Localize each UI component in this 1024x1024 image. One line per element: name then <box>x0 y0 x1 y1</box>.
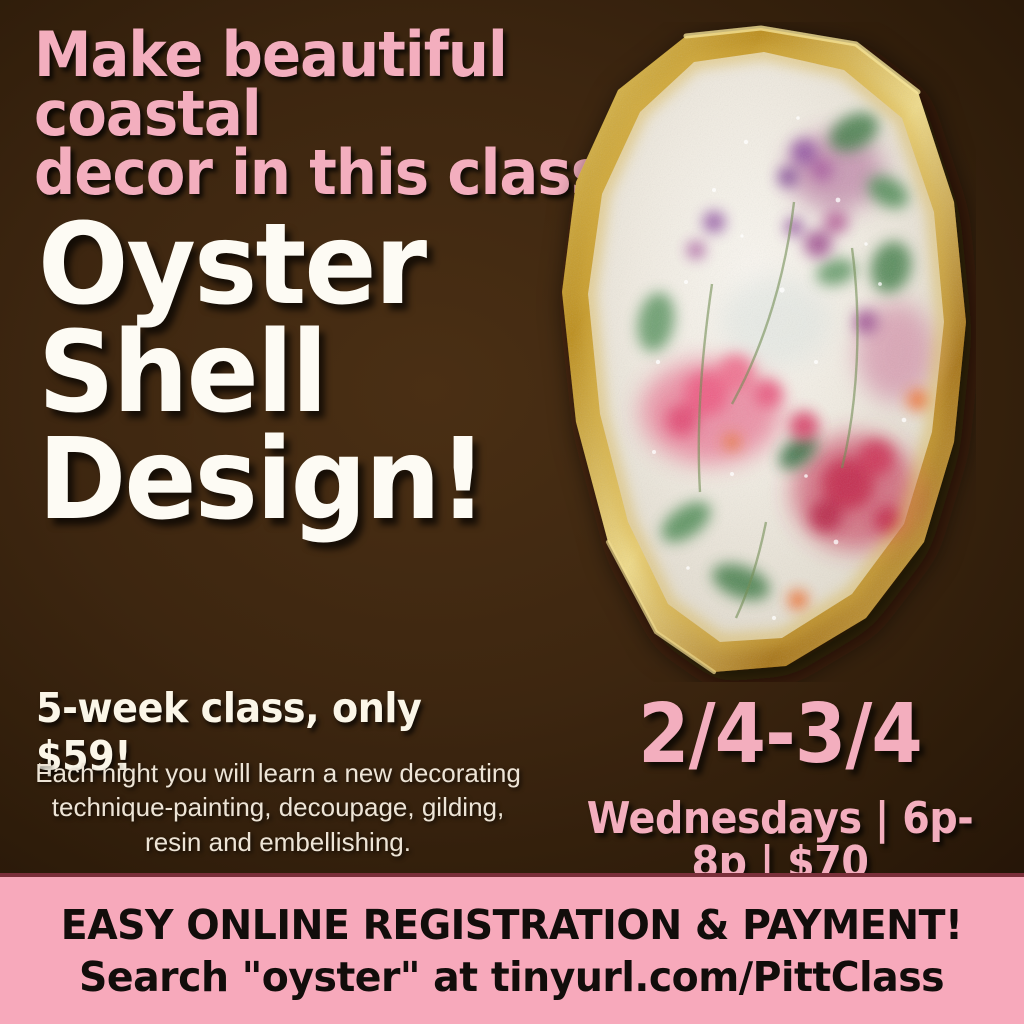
registration-banner: EASY ONLINE REGISTRATION & PAYMENT! Sear… <box>0 873 1024 1024</box>
date-range: 2/4-3/4 <box>569 694 992 776</box>
banner-line-2: Search "oyster" at tinyurl.com/PittClass <box>79 953 944 1001</box>
banner-line-1: EASY ONLINE REGISTRATION & PAYMENT! <box>61 901 963 949</box>
flyer-canvas: Make beautiful coastal decor in this cla… <box>0 0 1024 1024</box>
class-description: Each night you will learn a new decorati… <box>28 756 528 859</box>
schedule-details: Wednesdays | 6p-8p | $70 <box>569 797 992 885</box>
oyster-shell-photo <box>536 22 976 682</box>
headline-line-1: Make beautiful coastal <box>34 18 507 150</box>
class-title-line-2: Shell <box>38 320 513 428</box>
class-title-line-3: Design! <box>38 427 513 535</box>
class-title-line-1: Oyster <box>38 212 513 320</box>
class-title: Oyster Shell Design! <box>38 212 513 535</box>
